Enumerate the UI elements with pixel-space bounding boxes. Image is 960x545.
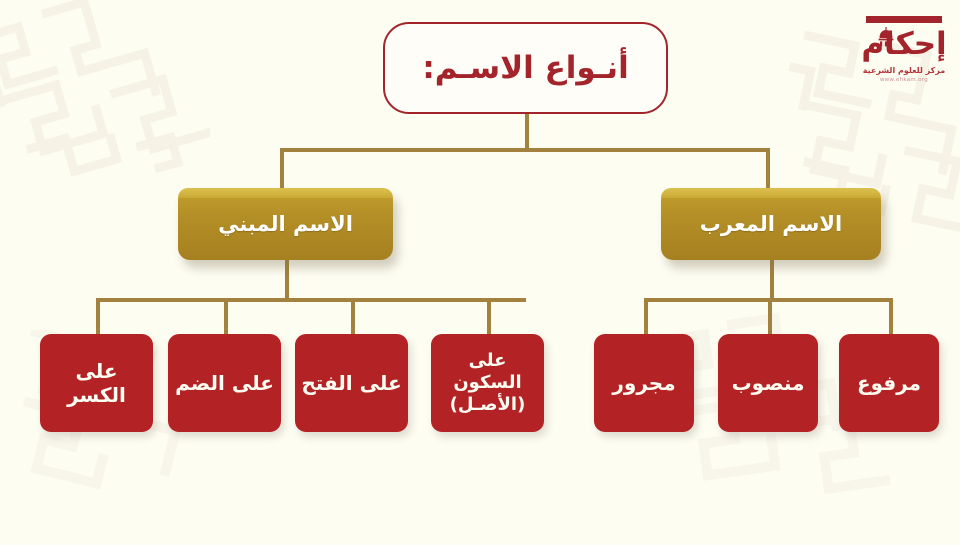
leaf-node-fath[interactable]: على الفتح <box>295 334 408 432</box>
connector-mabni-stem <box>285 260 289 300</box>
connector-to-mabni <box>280 148 284 188</box>
leaf-node-damm-label: على الضم <box>169 371 280 395</box>
gold-highlight <box>178 188 393 198</box>
logo-bar <box>866 16 942 23</box>
connector-mabni-bar <box>96 298 526 302</box>
connector-to-murab <box>766 148 770 188</box>
logo-url: www.ehkam.org <box>858 76 950 84</box>
root-node-title[interactable]: أنـواع الاسـم: <box>383 22 668 114</box>
leaf-node-sukoon[interactable]: على السكون (الأصـل) <box>431 334 544 432</box>
leaf-node-marfoo[interactable]: مرفوع <box>839 334 939 432</box>
connector-murab-child-3 <box>889 298 893 334</box>
root-node-label: أنـواع الاسـم: <box>422 53 628 84</box>
connector-murab-child-2 <box>768 298 772 334</box>
logo-subtitle: مركز للعلوم الشرعية <box>858 66 950 76</box>
connector-mabni-child-2 <box>224 298 228 334</box>
gold-highlight <box>661 188 881 198</box>
leaf-node-mansoob-label: منصوب <box>726 371 811 395</box>
leaf-node-sukoon-line-1: على السكون <box>453 350 521 393</box>
mosque-dome-icon <box>876 26 896 48</box>
leaf-node-majroor[interactable]: مجرور <box>594 334 694 432</box>
branch-node-mabni[interactable]: الاسم المبني <box>178 188 393 260</box>
leaf-node-kasr[interactable]: على الكسر <box>40 334 153 432</box>
logo-wordmark: إحكام <box>858 24 950 64</box>
diagram-canvas: أنـواع الاسـم: الاسم المبني الاسم المعرب… <box>0 0 960 540</box>
branch-node-murab-label: الاسم المعرب <box>700 214 842 235</box>
leaf-node-marfoo-label: مرفوع <box>851 371 927 395</box>
connector-mabni-child-1 <box>96 298 100 334</box>
leaf-node-mansoob[interactable]: منصوب <box>718 334 818 432</box>
leaf-node-damm[interactable]: على الضم <box>168 334 281 432</box>
connector-root-stem <box>525 114 529 150</box>
leaf-node-kasr-label: على الكسر <box>40 359 153 408</box>
branch-node-mabni-label: الاسم المبني <box>218 214 353 235</box>
leaf-node-fath-label: على الفتح <box>295 371 407 395</box>
leaf-node-sukoon-line-2: (الأصـل) <box>450 394 526 415</box>
connector-mabni-child-3 <box>351 298 355 334</box>
connector-murab-child-1 <box>644 298 648 334</box>
connector-root-bar <box>280 148 770 152</box>
connector-murab-stem <box>770 260 774 300</box>
branch-node-murab[interactable]: الاسم المعرب <box>661 188 881 260</box>
leaf-node-sukoon-label: على السكون (الأصـل) <box>431 350 544 416</box>
brand-logo[interactable]: إحكام مركز للعلوم الشرعية www.ehkam.org <box>858 16 950 90</box>
connector-mabni-child-4 <box>487 298 491 334</box>
leaf-node-majroor-label: مجرور <box>606 371 681 395</box>
